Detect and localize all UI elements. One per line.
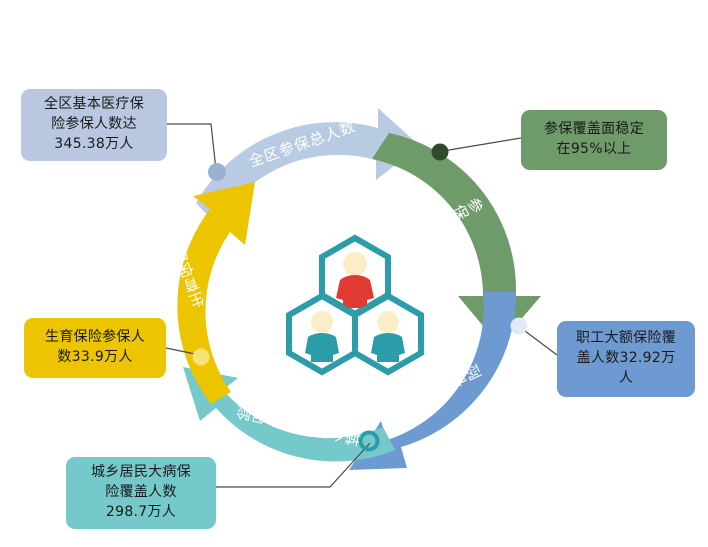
callout-maternity-line2: 数33.9万人 [32,348,158,368]
callout-employee-large-insurance: 职工大额保险覆 盖人数32.92万 人 [557,321,695,397]
hex-person-head-right [377,311,399,333]
callout-rate-line2: 在95%以上 [529,140,659,160]
three-hexagon-people-icon [289,238,421,372]
callout-total-line2: 险参保人数达 [29,115,159,135]
callout-employee-line1: 职工大额保险覆 [565,329,687,349]
callout-maternity-line1: 生育保险参保人 [32,328,158,348]
connector-dot-total [208,163,226,181]
connector-line-total [167,124,216,170]
connector-dot-rate [432,144,449,161]
callout-rate-line1: 参保覆盖面稳定 [529,120,659,140]
callout-resident-line2: 险覆盖人数 [74,483,208,503]
connector-line-rate [443,138,521,151]
callout-total-line1: 全区基本医疗保 [29,95,159,115]
infographic-canvas: 全区参保总人数 参保比例 职工大额保险 城乡居民大病保险 生育保险 全区基本医疗… [0,0,708,547]
connector-dot-maternity [193,349,210,366]
connector-dot-employee [511,318,528,335]
connector-line-employee [521,328,557,355]
hex-person-head-left [311,311,333,333]
callout-resident-line3: 298.7万人 [74,503,208,523]
callout-total-insured: 全区基本医疗保 险参保人数达 345.38万人 [21,89,167,161]
callout-coverage-rate: 参保覆盖面稳定 在95%以上 [521,110,667,170]
hex-person-head-top [343,252,367,276]
callout-employee-line3: 人 [565,369,687,389]
callout-resident-critical-illness: 城乡居民大病保 险覆盖人数 298.7万人 [66,457,216,529]
callout-employee-line2: 盖人数32.92万 [565,349,687,369]
callout-maternity-insurance: 生育保险参保人 数33.9万人 [24,318,166,378]
callout-resident-line1: 城乡居民大病保 [74,463,208,483]
callout-total-line3: 345.38万人 [29,135,159,155]
